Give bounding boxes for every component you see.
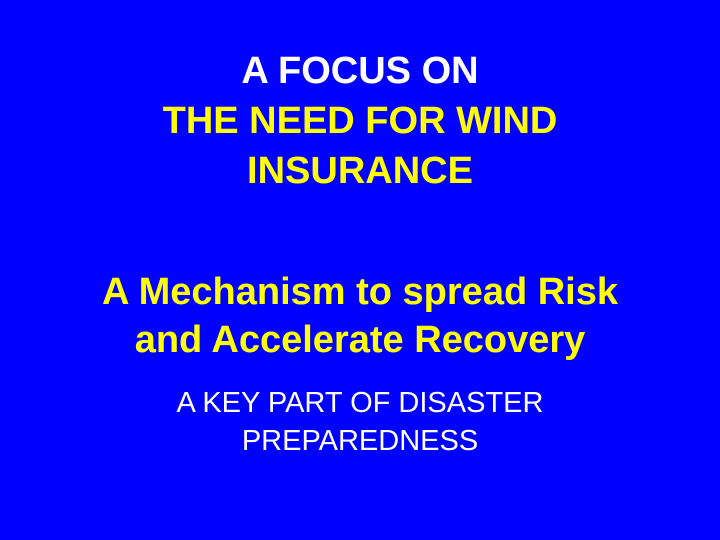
slide-tagline: A KEY PART OF DISASTER PREPAREDNESS [0, 384, 720, 460]
tagline-line-2: PREPAREDNESS [0, 422, 720, 460]
slide-title: A FOCUS ON THE NEED FOR WIND INSURANCE [0, 46, 720, 196]
title-line-3: INSURANCE [0, 146, 720, 196]
title-line-2: THE NEED FOR WIND [0, 96, 720, 146]
subtitle-line-2: and Accelerate Recovery [0, 316, 720, 364]
subtitle-line-1: A Mechanism to spread Risk [0, 268, 720, 316]
title-line-1: A FOCUS ON [0, 46, 720, 96]
presentation-slide: A FOCUS ON THE NEED FOR WIND INSURANCE A… [0, 0, 720, 540]
slide-subtitle: A Mechanism to spread Risk and Accelerat… [0, 268, 720, 364]
tagline-line-1: A KEY PART OF DISASTER [0, 384, 720, 422]
